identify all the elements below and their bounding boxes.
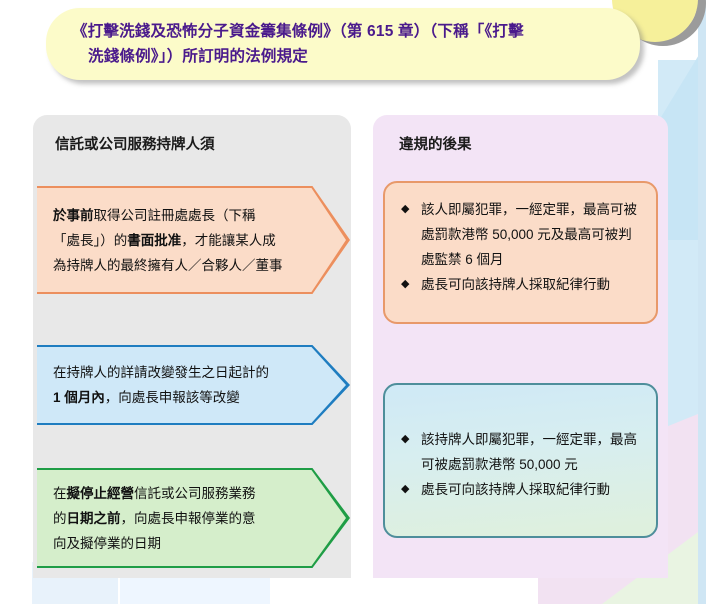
step-notify-change-text: 在持牌人的詳請改變發生之日起計的 1 個月內，向處長申報該等改變: [37, 360, 321, 410]
consequence-approval-bullet-2: 處長可向該持牌人採取紀律行動: [421, 277, 610, 292]
step-cease-business-l1-bold: 擬停止經營: [67, 486, 135, 501]
title-line-1: 《打擊洗錢及恐怖分子資金籌集條例》（第 615 章）（下稱「《打擊: [72, 23, 524, 40]
step-cease-business[interactable]: 在擬停止經營信託或公司服務業務 的日期之前，向處長申報停業的意 向及擬停業的日期: [37, 468, 350, 568]
step-prior-approval-l2-bold: 書面批准: [127, 233, 181, 248]
decorative-right-rail: [698, 0, 706, 604]
step-cease-business-l2-pre: 的: [53, 511, 67, 526]
list-item: ◆ 該持牌人即屬犯罪，一經定罪，最高可被處罰款港幣 50,000 元: [399, 427, 642, 477]
step-prior-approval-l3: 為持牌人的最終擁有人／合夥人／董事: [53, 258, 283, 273]
step-cease-business-text: 在擬停止經營信託或公司服務業務 的日期之前，向處長申報停業的意 向及擬停業的日期: [37, 481, 308, 556]
page-title: 《打擊洗錢及恐怖分子資金籌集條例》（第 615 章）（下稱「《打擊 洗錢條例》」…: [72, 19, 614, 69]
slide-canvas: 《打擊洗錢及恐怖分子資金籌集條例》（第 615 章）（下稱「《打擊 洗錢條例》」…: [0, 0, 706, 604]
step-notify-change-l2-bold: 1 個月內: [53, 390, 105, 405]
step-cease-business-l2-bold: 日期之前: [67, 511, 121, 526]
list-item: ◆ 該人即屬犯罪，一經定罪，最高可被處罰款港幣 50,000 元及最高可被判處監…: [399, 197, 642, 272]
step-notify-change-l1: 在持牌人的詳請改變發生之日起計的: [53, 365, 269, 380]
step-prior-approval-l1-bold: 於事前: [53, 208, 94, 223]
diamond-bullet-icon: ◆: [401, 272, 409, 297]
list-item: ◆ 處長可向該持牌人採取紀律行動: [399, 477, 642, 502]
diamond-bullet-icon: ◆: [401, 197, 409, 222]
right-column-heading: 違規的後果: [399, 133, 472, 154]
consequence-change-bullet-1: 該持牌人即屬犯罪，一經定罪，最高可被處罰款港幣 50,000 元: [421, 432, 637, 472]
diamond-bullet-icon: ◆: [401, 427, 409, 452]
consequence-change-bullet-2: 處長可向該持牌人採取紀律行動: [421, 482, 610, 497]
step-prior-approval-l1: 取得公司註冊處處長（下稱: [94, 208, 256, 223]
step-prior-approval-l2: ，才能讓某人成: [181, 233, 276, 248]
title-banner: 《打擊洗錢及恐怖分子資金籌集條例》（第 615 章）（下稱「《打擊 洗錢條例》」…: [46, 8, 640, 80]
decorative-bottom-left-block-2: [120, 578, 270, 604]
step-cease-business-l3: 向及擬停業的日期: [53, 536, 161, 551]
step-notify-change[interactable]: 在持牌人的詳請改變發生之日起計的 1 個月內，向處長申報該等改變: [37, 345, 350, 425]
consequence-approval-box[interactable]: ◆ 該人即屬犯罪，一經定罪，最高可被處罰款港幣 50,000 元及最高可被判處監…: [383, 181, 658, 324]
step-cease-business-l1-pre: 在: [53, 486, 67, 501]
left-column-heading: 信託或公司服務持牌人須: [55, 133, 215, 154]
step-prior-approval[interactable]: 於事前取得公司註冊處處長（下稱 「處長」）的書面批准，才能讓某人成 為持牌人的最…: [37, 186, 350, 294]
consequence-approval-bullet-1: 該人即屬犯罪，一經定罪，最高可被處罰款港幣 50,000 元及最高可被判處監禁 …: [421, 202, 637, 267]
step-notify-change-l2: ，向處長申報該等改變: [105, 390, 240, 405]
consequence-change-box[interactable]: ◆ 該持牌人即屬犯罪，一經定罪，最高可被處罰款港幣 50,000 元 ◆ 處長可…: [383, 383, 658, 538]
consequence-approval-list: ◆ 該人即屬犯罪，一經定罪，最高可被處罰款港幣 50,000 元及最高可被判處監…: [399, 197, 642, 297]
consequence-change-list: ◆ 該持牌人即屬犯罪，一經定罪，最高可被處罰款港幣 50,000 元 ◆ 處長可…: [399, 427, 642, 502]
step-prior-approval-text: 於事前取得公司註冊處處長（下稱 「處長」）的書面批准，才能讓某人成 為持牌人的最…: [37, 203, 335, 278]
title-line-2: 洗錢條例》」）所訂明的法例規定: [72, 44, 614, 69]
list-item: ◆ 處長可向該持牌人採取紀律行動: [399, 272, 642, 297]
step-cease-business-l1: 信託或公司服務業務: [134, 486, 256, 501]
diamond-bullet-icon: ◆: [401, 477, 409, 502]
step-prior-approval-l2-pre: 「處長」）的: [53, 233, 127, 248]
step-cease-business-l2: ，向處長申報停業的意: [121, 511, 256, 526]
